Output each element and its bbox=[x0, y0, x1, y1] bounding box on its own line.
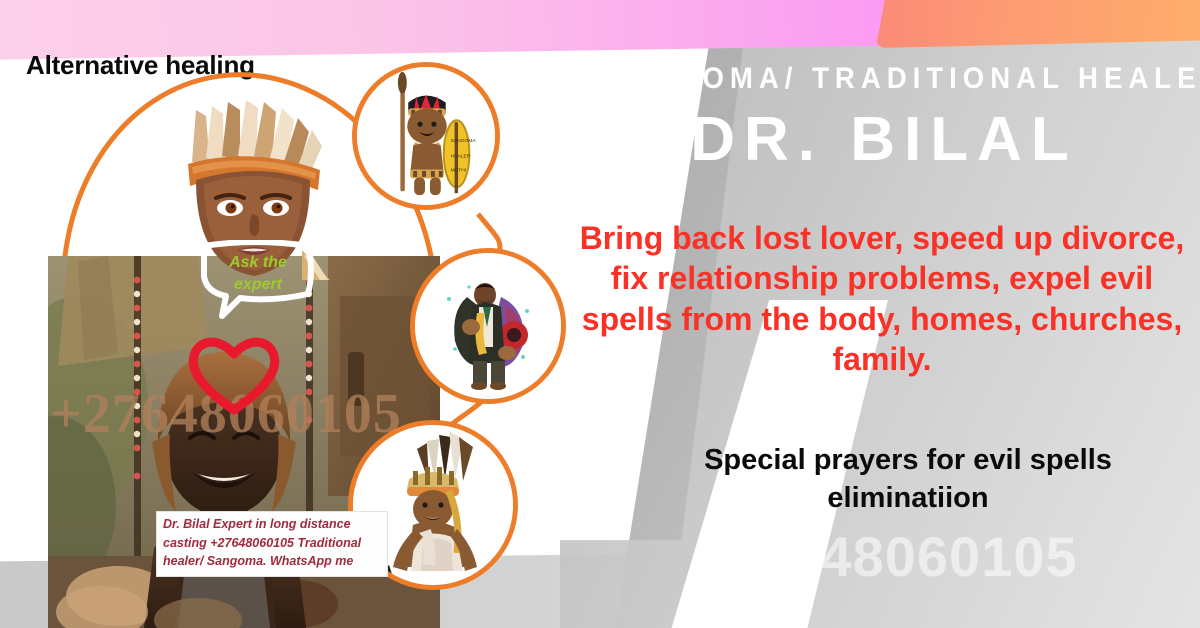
offer-text: Special prayers for evil spells eliminat… bbox=[620, 442, 1196, 517]
svg-text:MUTHI: MUTHI bbox=[451, 167, 467, 173]
caption-line-1: Dr. Bilal Expert in long distance bbox=[163, 515, 381, 534]
svg-text:HEALER: HEALER bbox=[451, 154, 471, 160]
heart-icon bbox=[186, 330, 282, 416]
photo-bottom-band bbox=[48, 568, 440, 628]
caption-line-2: casting +27648060105 Traditional bbox=[163, 534, 381, 553]
services-text: Bring back lost lover, speed up divorce,… bbox=[568, 218, 1196, 379]
thumbnail-traditional-healer-robes[interactable] bbox=[410, 248, 566, 404]
thumbnail-zulu-warrior-cartoon[interactable]: SANGOMAHEALERMUTHI bbox=[352, 62, 500, 210]
healer-name: DR. BILAL bbox=[574, 104, 1194, 175]
left-collage: Alternative healing bbox=[0, 0, 580, 628]
photo-caption: Dr. Bilal Expert in long distance castin… bbox=[156, 511, 388, 577]
poster-canvas: Alternative healing bbox=[0, 0, 1200, 628]
speech-bubble-text: Ask the expert bbox=[206, 252, 310, 295]
kicker-text: SANGOMA/ TRADITIONAL HEALER bbox=[599, 62, 1169, 96]
svg-text:SANGOMA: SANGOMA bbox=[451, 138, 477, 144]
right-text-panel: +27648060105 SANGOMA/ TRADITIONAL HEALER… bbox=[560, 0, 1200, 628]
phone-watermark: +27648060105 bbox=[570, 524, 1198, 589]
caption-line-3: healer/ Sangoma. WhatsApp me bbox=[163, 552, 381, 571]
page-title: Alternative healing bbox=[26, 50, 255, 81]
